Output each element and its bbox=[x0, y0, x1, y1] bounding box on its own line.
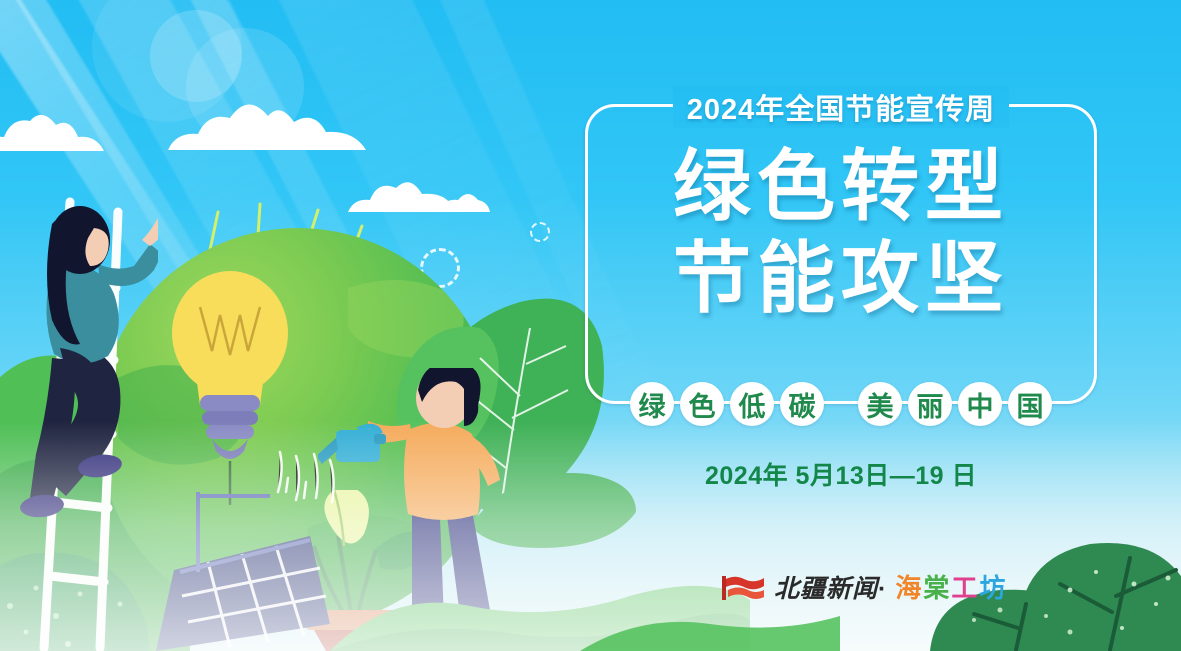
poster-canvas: 2024年全国节能宣传周 绿色转型 节能攻坚 绿 色 低 碳 美 丽 中 国 2… bbox=[0, 0, 1181, 651]
headline-line-1: 绿色转型 bbox=[585, 140, 1097, 232]
logo-subbrand-char: 坊 bbox=[979, 573, 1007, 603]
bottom-grass-right bbox=[580, 600, 840, 651]
woman-climbing-ladder bbox=[8, 198, 158, 528]
logo-separator: · bbox=[878, 575, 887, 603]
subtitle-chip: 国 bbox=[1008, 382, 1052, 426]
logo-brand-text: 北疆新闻· bbox=[774, 569, 887, 605]
subtitle-chip: 绿 bbox=[630, 382, 674, 426]
logo-subbrand-char: 工 bbox=[951, 573, 979, 603]
logo-subbrand-char: 海 bbox=[895, 573, 923, 603]
watering-can bbox=[318, 420, 398, 480]
subtitle-chip: 碳 bbox=[780, 382, 824, 426]
publisher-logo[interactable]: 北疆新闻· 海棠工坊 bbox=[722, 568, 1007, 605]
headline-line-2: 节能攻坚 bbox=[585, 232, 1097, 324]
subtitle-chip: 色 bbox=[680, 382, 724, 426]
subtitle-chip: 低 bbox=[730, 382, 774, 426]
subtitle-chip: 丽 bbox=[908, 382, 952, 426]
subtitle-chip: 美 bbox=[858, 382, 902, 426]
headline-block: 绿色转型 节能攻坚 bbox=[585, 140, 1097, 324]
kicker-label: 2024年全国节能宣传周 bbox=[585, 86, 1097, 128]
dashed-ring-decor bbox=[530, 222, 550, 242]
subtitle-chip: 中 bbox=[958, 382, 1002, 426]
logo-subbrand-char: 棠 bbox=[923, 573, 951, 603]
logo-brand: 北疆新闻 bbox=[774, 575, 878, 603]
logo-subbrand-text: 海棠工坊 bbox=[895, 568, 1007, 605]
subtitle-chips: 绿 色 低 碳 美 丽 中 国 bbox=[585, 382, 1097, 426]
kicker-text: 2024年全国节能宣传周 bbox=[673, 86, 1010, 128]
cloud-shape bbox=[0, 105, 110, 155]
title-panel: 2024年全国节能宣传周 绿色转型 节能攻坚 绿 色 低 碳 美 丽 中 国 2… bbox=[585, 104, 1097, 404]
red-flag-mark-icon bbox=[722, 572, 766, 602]
cloud-shape bbox=[438, 188, 490, 214]
event-date: 2024年 5月13日—19 日 bbox=[585, 456, 1097, 492]
cloud-shape bbox=[168, 92, 368, 154]
